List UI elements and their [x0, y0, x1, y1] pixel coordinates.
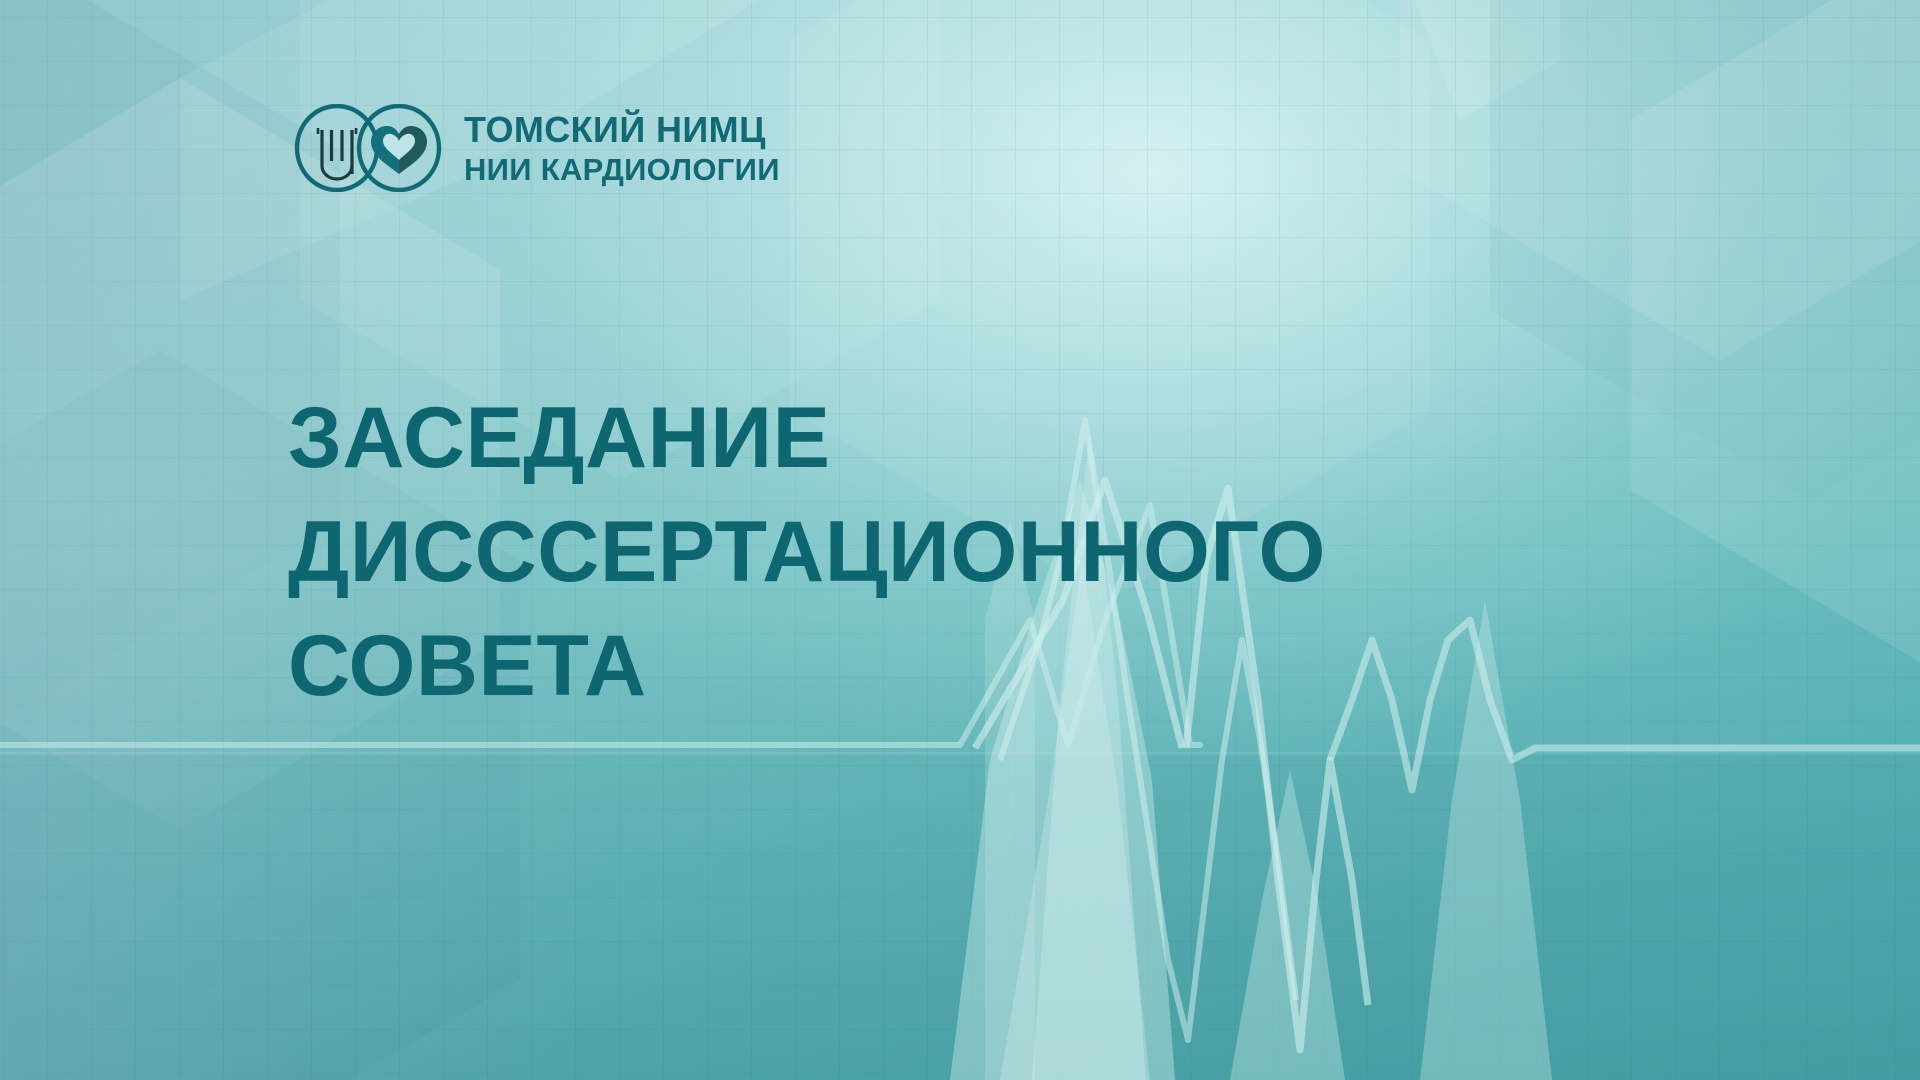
title-line-2: ДИСССЕРТАЦИОННОГО — [288, 495, 1538, 609]
logo: ТОМСКИЙ НИМЦ НИИ КАРДИОЛОГИИ — [293, 104, 780, 192]
slide-canvas: ТОМСКИЙ НИМЦ НИИ КАРДИОЛОГИИ ЗАСЕДАНИЕ Д… — [0, 0, 1920, 1080]
logo-line-2: НИИ КАРДИОЛОГИИ — [464, 154, 780, 185]
page-title: ЗАСЕДАНИЕ ДИСССЕРТАЦИОННОГО СОВЕТА — [288, 381, 1538, 723]
logo-text: ТОМСКИЙ НИМЦ НИИ КАРДИОЛОГИИ — [464, 112, 780, 185]
logo-mark-icon — [293, 104, 445, 192]
title-line-3: СОВЕТА — [288, 609, 1538, 723]
title-line-1: ЗАСЕДАНИЕ — [288, 381, 1538, 495]
logo-line-1: ТОМСКИЙ НИМЦ — [464, 112, 780, 148]
